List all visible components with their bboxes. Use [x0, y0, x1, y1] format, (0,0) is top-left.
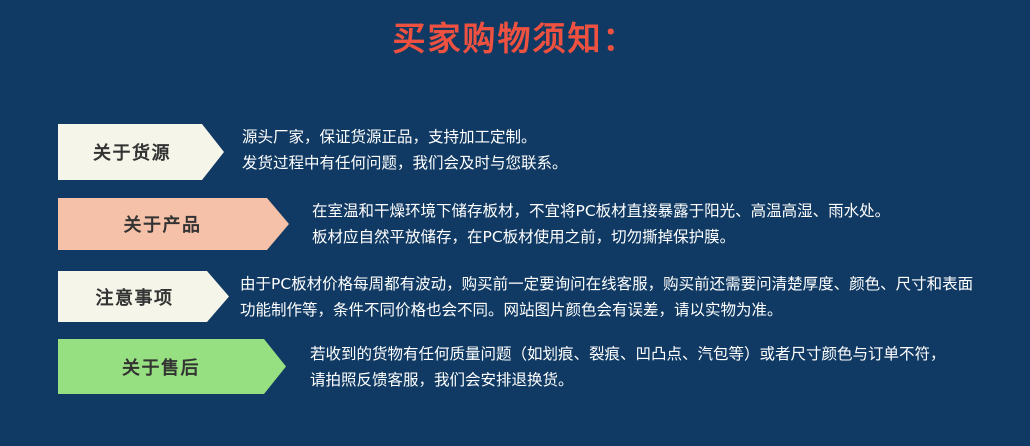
notice-text-line: 功能制作等，条件不同价格也会不同。网站图片颜色会有误差，请以实物为准。 — [240, 297, 973, 323]
notice-text-line: 若收到的货物有任何质量问题（如划痕、裂痕、凹凸点、汽包等）或者尺寸颜色与订单不符… — [310, 341, 946, 367]
badge-attention-notes: 注意事项 — [58, 271, 229, 322]
notice-row-source: 关于货源 源头厂家，保证货源正品，支持加工定制。 发货过程中有任何问题，我们会及… — [0, 124, 1030, 182]
badge-after-sales: 关于售后 — [58, 339, 286, 394]
notice-text-attention: 由于PC板材价格每周都有波动，购买前一定要询问在线客服，购买前还需要问清楚厚度、… — [240, 271, 973, 323]
notice-text-line: 板材应自然平放储存，在PC板材使用之前，切勿撕掉保护膜。 — [312, 224, 890, 250]
notice-text-source: 源头厂家，保证货源正品，支持加工定制。 发货过程中有任何问题，我们会及时与您联系… — [242, 124, 568, 176]
badge-about-product: 关于产品 — [58, 198, 289, 250]
notice-row-attention: 注意事项 由于PC板材价格每周都有波动，购买前一定要询问在线客服，购买前还需要问… — [0, 271, 1030, 325]
page-title-container: 买家购物须知： — [0, 17, 1030, 61]
badge-about-product-label: 关于产品 — [124, 211, 202, 237]
badge-attention-notes-label: 注意事项 — [96, 284, 174, 310]
notice-row-after-sales: 关于售后 若收到的货物有任何质量问题（如划痕、裂痕、凹凸点、汽包等）或者尺寸颜色… — [0, 339, 1030, 395]
badge-about-source-label: 关于货源 — [93, 139, 171, 165]
notice-row-product: 关于产品 在室温和干燥环境下储存板材，不宜将PC板材直接暴露于阳光、高温高湿、雨… — [0, 198, 1030, 252]
buyer-notice-banner: 买家购物须知： 关于货源 源头厂家，保证货源正品，支持加工定制。 发货过程中有任… — [0, 0, 1030, 446]
badge-about-source: 关于货源 — [58, 124, 224, 180]
notice-text-line: 由于PC板材价格每周都有波动，购买前一定要询问在线客服，购买前还需要问清楚厚度、… — [240, 271, 973, 297]
notice-text-line: 在室温和干燥环境下储存板材，不宜将PC板材直接暴露于阳光、高温高湿、雨水处。 — [312, 198, 890, 224]
notice-text-line: 请拍照反馈客服，我们会安排退换货。 — [310, 367, 946, 393]
page-title: 买家购物须知： — [393, 17, 638, 61]
notice-text-line: 发货过程中有任何问题，我们会及时与您联系。 — [242, 150, 568, 176]
notice-text-after-sales: 若收到的货物有任何质量问题（如划痕、裂痕、凹凸点、汽包等）或者尺寸颜色与订单不符… — [310, 341, 946, 393]
badge-after-sales-label: 关于售后 — [122, 354, 200, 380]
notice-text-line: 源头厂家，保证货源正品，支持加工定制。 — [242, 124, 568, 150]
notice-text-product: 在室温和干燥环境下储存板材，不宜将PC板材直接暴露于阳光、高温高湿、雨水处。 板… — [312, 198, 890, 250]
